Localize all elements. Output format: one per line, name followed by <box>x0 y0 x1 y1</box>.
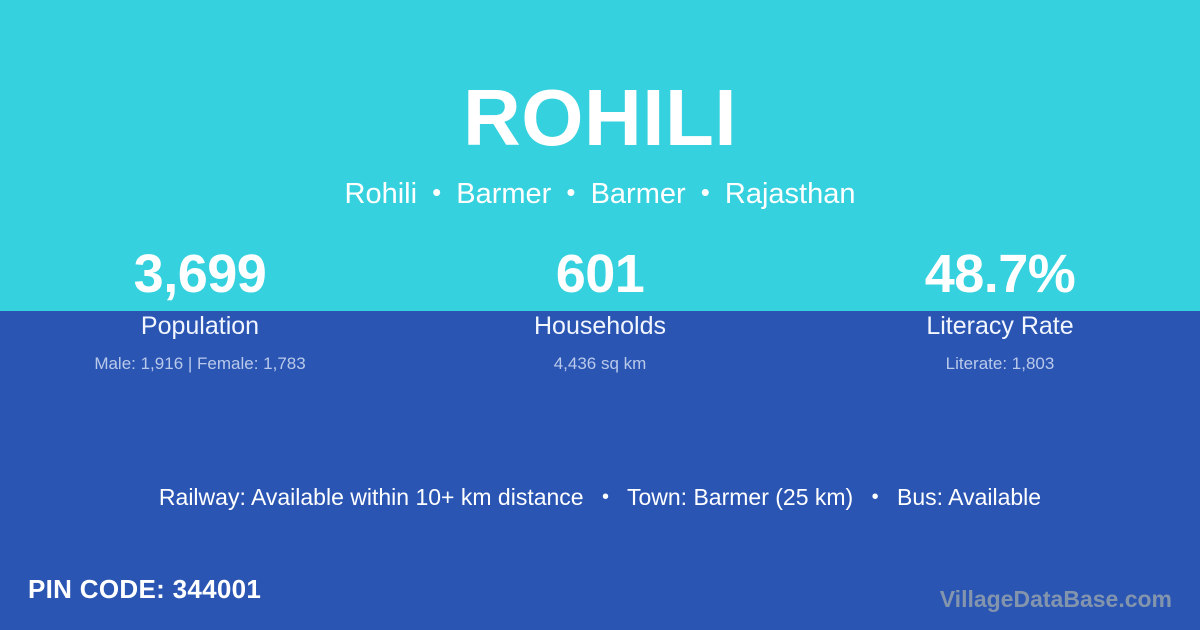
stat-literacy-rate-sub: Literate: 1,803 <box>800 355 1200 372</box>
stat-literacy-rate: 48.7% Literacy Rate Literate: 1,803 <box>800 243 1200 372</box>
pin-code: PIN CODE: 344001 <box>28 576 261 602</box>
brand-watermark: VillageDataBase.com <box>940 588 1172 611</box>
facility-railway: Railway: Available within 10+ km distanc… <box>159 484 584 510</box>
stat-literacy-rate-value: 48.7% <box>800 243 1200 305</box>
breadcrumb-item-state: Rajasthan <box>725 178 856 210</box>
stat-population-label: Population <box>0 314 400 339</box>
facility-separator-icon: • <box>860 486 891 508</box>
breadcrumb-item-district: Barmer <box>591 178 686 210</box>
facility-bus: Bus: Available <box>897 484 1041 510</box>
breadcrumb-item-village: Rohili <box>345 178 418 210</box>
facility-town: Town: Barmer (25 km) <box>627 484 853 510</box>
facility-separator-icon: • <box>590 486 621 508</box>
breadcrumb-item-tehsil: Barmer <box>456 178 551 210</box>
stat-population-value: 3,699 <box>0 243 400 305</box>
stat-population: 3,699 Population Male: 1,916 | Female: 1… <box>0 243 400 372</box>
stat-households-label: Households <box>400 314 800 339</box>
stat-households: 601 Households 4,436 sq km <box>400 243 800 372</box>
breadcrumb-separator-icon: • <box>694 177 717 207</box>
stats-row: 3,699 Population Male: 1,916 | Female: 1… <box>0 243 1200 372</box>
stat-literacy-rate-label: Literacy Rate <box>800 314 1200 339</box>
card-header: ROHILI Rohili • Barmer • Barmer • Rajast… <box>0 0 1200 209</box>
breadcrumb: Rohili • Barmer • Barmer • Rajasthan <box>0 180 1200 209</box>
page-title: ROHILI <box>0 78 1200 158</box>
stat-population-sub: Male: 1,916 | Female: 1,783 <box>0 355 400 372</box>
village-info-card: ROHILI Rohili • Barmer • Barmer • Rajast… <box>0 0 1200 630</box>
card-footer: PIN CODE: 344001 VillageDataBase.com <box>0 560 1200 630</box>
breadcrumb-separator-icon: • <box>559 177 582 207</box>
stat-households-sub: 4,436 sq km <box>400 355 800 372</box>
facilities-row: Railway: Available within 10+ km distanc… <box>0 486 1200 509</box>
breadcrumb-separator-icon: • <box>425 177 448 207</box>
stat-households-value: 601 <box>400 243 800 305</box>
